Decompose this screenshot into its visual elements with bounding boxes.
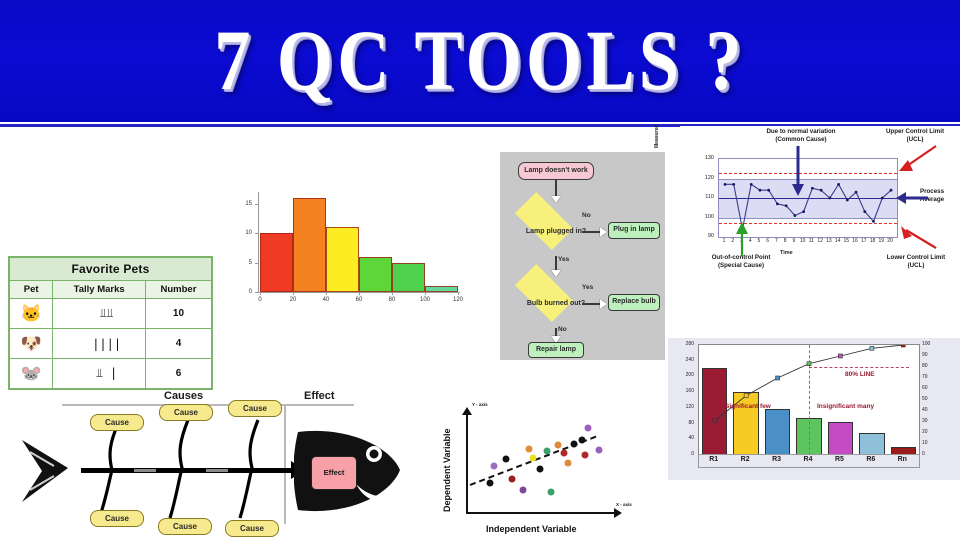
scatter-point bbox=[486, 479, 493, 486]
scatter-x-label: Independent Variable bbox=[486, 524, 577, 534]
histogram-bar bbox=[359, 257, 392, 292]
flowchart: Lamp doesn't work Lamp plugged in? No Pl… bbox=[500, 152, 665, 360]
pareto-category-label: R3 bbox=[772, 456, 781, 463]
axis-tick-label: 200 bbox=[674, 372, 694, 378]
axis-tick-label: 10 bbox=[922, 440, 938, 446]
scatter-point bbox=[584, 424, 591, 431]
scatter-point bbox=[579, 437, 586, 444]
table-row: 🐶 |||| 4 bbox=[9, 329, 212, 359]
scatter-diagram: Y - axis X - axis Dependent Variable Ind… bbox=[418, 398, 633, 540]
scatter-x-axis bbox=[466, 512, 616, 514]
scatter-point bbox=[503, 456, 510, 463]
axis-tick-label: 40 bbox=[922, 407, 938, 413]
axis-tick-label: 120 bbox=[698, 175, 714, 181]
page-title: 7 QC TOOLS ? bbox=[77, 6, 883, 114]
pareto-category-label: R6 bbox=[866, 456, 875, 463]
control-chart-x-label: Time bbox=[780, 250, 793, 256]
axis-tick-label: 0 bbox=[258, 297, 261, 303]
control-chart-plot bbox=[718, 158, 898, 238]
scatter-y-axis-tag: Y - axis bbox=[472, 402, 488, 407]
fishbone-ribs bbox=[76, 418, 296, 522]
check-sheet: Favorite Pets Pet Tally Marks Number 🐱 ⫫… bbox=[8, 256, 213, 390]
scatter-point bbox=[555, 442, 562, 449]
axis-tick-label: 80 bbox=[922, 363, 938, 369]
annotation-process-average: Process Average bbox=[904, 188, 960, 204]
control-chart-y-label: Measured bbox=[654, 125, 660, 148]
axis-tick-label: 19 bbox=[878, 238, 884, 244]
arrow-up-icon bbox=[462, 407, 472, 415]
scatter-y-axis bbox=[466, 414, 468, 514]
axis-tick-label: 20 bbox=[887, 238, 893, 244]
check-sheet-title: Favorite Pets bbox=[9, 257, 212, 281]
axis-tick-label: 100 bbox=[698, 214, 714, 220]
axis-tick-label: 2 bbox=[731, 238, 734, 244]
fishbone-causes-header: Causes bbox=[164, 390, 203, 402]
flow-edge-label-no-2: No bbox=[558, 326, 567, 333]
annotation-lcl: Lower Control Limit (UCL) bbox=[872, 254, 960, 270]
axis-tick bbox=[255, 204, 258, 205]
annotation-special-cause: Out-of-control Point (Special Cause) bbox=[686, 254, 796, 270]
cause-box: Cause bbox=[225, 520, 279, 537]
axis-tick-label: 30 bbox=[922, 418, 938, 424]
cause-box: Cause bbox=[228, 400, 282, 417]
flow-edge-label-no: No bbox=[582, 212, 591, 219]
axis-tick-label: 8 bbox=[784, 238, 787, 244]
axis-tick-label: 6 bbox=[766, 238, 769, 244]
scatter-point bbox=[560, 450, 567, 457]
pareto-chart: Significant few Insignificant many 80% L… bbox=[668, 338, 960, 480]
qc-tools-poster: 7 QC TOOLS ? Favorite Pets Pet Tally Mar… bbox=[0, 0, 960, 540]
axis-tick-label: 50 bbox=[922, 396, 938, 402]
axis-tick-label: 4 bbox=[749, 238, 752, 244]
axis-tick-label: 40 bbox=[674, 435, 694, 441]
axis-tick-label: 5 bbox=[236, 260, 252, 266]
axis-tick-label: 120 bbox=[453, 297, 463, 303]
tally-marks: ⫫⫫ bbox=[53, 299, 146, 329]
axis-tick-label: 20 bbox=[290, 297, 297, 303]
arrow-down-icon bbox=[551, 270, 561, 277]
cause-box: Cause bbox=[90, 510, 144, 527]
axis-tick-label: 5 bbox=[758, 238, 761, 244]
check-sheet-col-number: Number bbox=[145, 281, 212, 299]
scatter-point bbox=[570, 441, 577, 448]
cause-box: Cause bbox=[90, 414, 144, 431]
axis-tick-label: 100 bbox=[420, 297, 430, 303]
axis-tick-label: 0 bbox=[922, 451, 938, 457]
axis-tick-label: 18 bbox=[870, 238, 876, 244]
arrow-right-icon bbox=[614, 508, 622, 518]
scatter-point bbox=[530, 455, 537, 462]
pareto-category-label: R1 bbox=[709, 456, 718, 463]
pareto-category-label: Rn bbox=[898, 456, 907, 463]
cat-icon: 🐱 bbox=[21, 304, 42, 323]
count-value: 10 bbox=[145, 299, 212, 329]
axis-tick-label: 70 bbox=[922, 374, 938, 380]
flow-edge-label-yes-2: Yes bbox=[582, 284, 593, 291]
scatter-point bbox=[520, 487, 527, 494]
annotation-ucl: Upper Control Limit (UCL) bbox=[870, 128, 960, 144]
histogram-bar bbox=[425, 286, 458, 292]
histogram: 020406080100120 051015 bbox=[222, 168, 472, 313]
axis-tick bbox=[255, 233, 258, 234]
axis-tick-label: 1 bbox=[723, 238, 726, 244]
scatter-point bbox=[565, 459, 572, 466]
scatter-point bbox=[548, 489, 555, 496]
annotation-common-cause: Due to normal variation (Common Cause) bbox=[736, 128, 866, 144]
axis-tick-label: 16 bbox=[852, 238, 858, 244]
axis-tick-label: 10 bbox=[236, 230, 252, 236]
axis-tick-label: 120 bbox=[674, 404, 694, 410]
flow-node-repair-lamp: Repair lamp bbox=[528, 342, 584, 358]
axis-tick bbox=[458, 292, 459, 295]
axis-tick-label: 130 bbox=[698, 155, 714, 161]
cause-box: Cause bbox=[159, 404, 213, 421]
axis-tick-label: 13 bbox=[826, 238, 832, 244]
axis-tick-label: 60 bbox=[922, 385, 938, 391]
histogram-bar bbox=[326, 227, 359, 292]
axis-tick-label: 0 bbox=[674, 451, 694, 457]
scatter-point bbox=[595, 447, 602, 454]
axis-tick-label: 14 bbox=[835, 238, 841, 244]
axis-tick-label: 40 bbox=[323, 297, 330, 303]
axis-tick-label: 80 bbox=[674, 420, 694, 426]
pareto-plot: Significant few Insignificant many 80% L… bbox=[698, 344, 920, 456]
pareto-category-label: R2 bbox=[741, 456, 750, 463]
axis-tick-label: 90 bbox=[698, 233, 714, 239]
axis-tick-label: 12 bbox=[817, 238, 823, 244]
pareto-category-label: R5 bbox=[835, 456, 844, 463]
axis-tick-label: 240 bbox=[674, 357, 694, 363]
axis-tick-label: 10 bbox=[800, 238, 806, 244]
dog-icon: 🐶 bbox=[21, 334, 42, 353]
control-chart: Due to normal variation (Common Cause) U… bbox=[680, 126, 960, 272]
axis-tick-label: 9 bbox=[793, 238, 796, 244]
cause-box: Cause bbox=[158, 518, 212, 535]
effect-box: Effect bbox=[311, 456, 357, 490]
mouse-icon: 🐭 bbox=[21, 364, 42, 383]
axis-tick-label: 7 bbox=[775, 238, 778, 244]
fishbone-effect-header: Effect bbox=[304, 390, 335, 402]
annotation-80-line: 80% LINE bbox=[845, 371, 875, 378]
scatter-y-label: Dependent Variable bbox=[442, 428, 452, 512]
check-sheet-col-pet: Pet bbox=[9, 281, 53, 299]
axis-tick-label: 60 bbox=[356, 297, 363, 303]
axis-tick bbox=[255, 263, 258, 264]
axis-tick bbox=[293, 292, 294, 295]
histogram-bar bbox=[260, 233, 293, 292]
axis-tick-label: 17 bbox=[861, 238, 867, 244]
table-row: 🐱 ⫫⫫ 10 bbox=[9, 299, 212, 329]
axis-tick-label: 280 bbox=[674, 341, 694, 347]
scatter-point bbox=[509, 475, 516, 482]
axis-tick bbox=[255, 292, 258, 293]
axis-tick-label: 15 bbox=[236, 201, 252, 207]
scatter-x-axis-tag: X - axis bbox=[616, 502, 632, 507]
axis-tick-label: 160 bbox=[674, 388, 694, 394]
axis-tick bbox=[260, 292, 261, 295]
axis-tick-label: 80 bbox=[389, 297, 396, 303]
histogram-bar bbox=[293, 198, 326, 292]
flow-node-start: Lamp doesn't work bbox=[518, 162, 594, 180]
tally-marks: |||| bbox=[53, 329, 146, 359]
axis-tick bbox=[392, 292, 393, 295]
annotation-insignificant-many: Insignificant many bbox=[817, 403, 874, 410]
axis-tick bbox=[326, 292, 327, 295]
flow-edge-label-yes: Yes bbox=[558, 256, 569, 263]
axis-tick-label: 0 bbox=[236, 289, 252, 295]
arrow-right-icon bbox=[600, 227, 607, 237]
axis-tick-label: 3 bbox=[740, 238, 743, 244]
axis-tick bbox=[425, 292, 426, 295]
axis-tick-label: 20 bbox=[922, 429, 938, 435]
histogram-y-axis bbox=[258, 192, 259, 292]
scatter-point bbox=[544, 448, 551, 455]
scatter-point bbox=[525, 446, 532, 453]
axis-tick bbox=[359, 292, 360, 295]
count-value: 4 bbox=[145, 329, 212, 359]
arrow-right-icon bbox=[600, 299, 607, 309]
header-banner: 7 QC TOOLS ? bbox=[0, 0, 960, 122]
flow-node-plug-in-lamp: Plug in lamp bbox=[608, 222, 660, 239]
flow-node-replace-bulb: Replace bulb bbox=[608, 294, 660, 311]
pareto-cumulative-line bbox=[699, 345, 919, 455]
axis-tick-label: 15 bbox=[844, 238, 850, 244]
axis-tick-label: 11 bbox=[809, 238, 814, 244]
fishbone-diagram: Causes Effect Cause Cause Cause Cause Ca… bbox=[6, 382, 406, 540]
axis-tick-label: 90 bbox=[922, 352, 938, 358]
scatter-point bbox=[490, 462, 497, 469]
axis-tick-label: 110 bbox=[698, 194, 714, 200]
arrow-down-icon bbox=[551, 196, 561, 203]
axis-tick-label: 100 bbox=[922, 341, 938, 347]
scatter-point bbox=[537, 465, 544, 472]
control-chart-series bbox=[719, 159, 897, 237]
annotation-significant-few: Significant few bbox=[725, 403, 771, 410]
histogram-bar bbox=[392, 263, 425, 292]
scatter-point bbox=[581, 452, 588, 459]
check-sheet-col-tally: Tally Marks bbox=[53, 281, 146, 299]
pareto-category-label: R4 bbox=[804, 456, 813, 463]
